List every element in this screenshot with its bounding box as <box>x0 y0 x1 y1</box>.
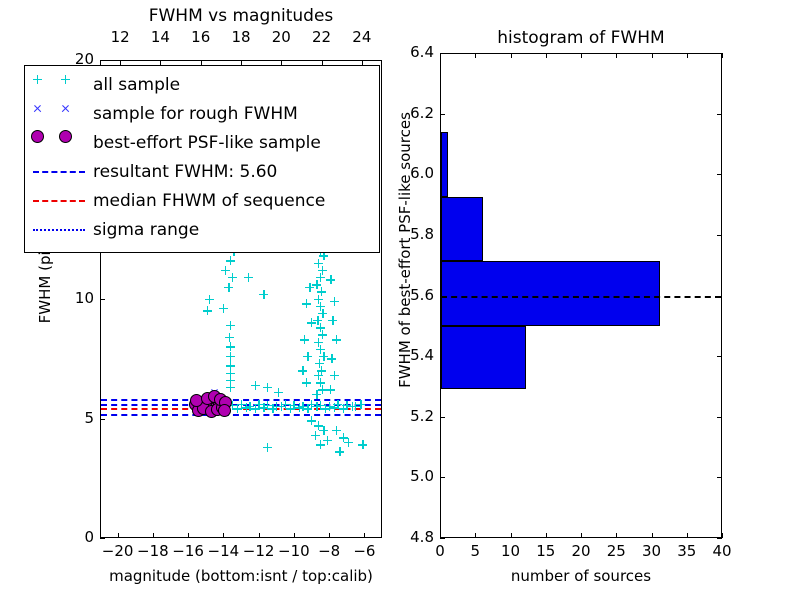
hist-x-tick: 30 <box>634 542 670 560</box>
legend-label: resultant FWHM: 5.60 <box>89 162 277 182</box>
hist-y-tick-mark-right <box>717 538 722 539</box>
scatter-bottom-tick: −10 <box>274 542 314 560</box>
hist-x-tick: 25 <box>598 542 634 560</box>
scatter-point-all-sample <box>335 447 344 456</box>
scatter-point-all-sample <box>317 366 326 375</box>
scatter-point-all-sample <box>226 352 235 361</box>
scatter-point-all-sample <box>311 431 320 440</box>
hist-x-tick: 5 <box>457 542 493 560</box>
scatter-point-all-sample <box>318 266 327 275</box>
hist-x-tick-mark <box>722 533 723 538</box>
scatter-point-all-sample <box>316 345 325 354</box>
scatter-xlabel: magnitude (bottom:isnt / top:calib) <box>80 567 402 585</box>
scatter-point-all-sample <box>263 383 272 392</box>
scatter-point-all-sample <box>314 259 323 268</box>
scatter-point-all-sample <box>307 416 316 425</box>
scatter-point-all-sample <box>318 330 327 339</box>
plus-icon <box>61 75 70 84</box>
scatter-point-all-sample <box>226 321 235 330</box>
scatter-point-all-sample <box>326 275 335 284</box>
hist-x-tick: 15 <box>528 542 564 560</box>
scatter-point-all-sample <box>203 306 212 315</box>
scatter-point-all-sample <box>319 352 328 361</box>
scatter-y-tick: 0 <box>56 528 94 546</box>
scatter-point-all-sample <box>327 354 336 363</box>
scatter-point-all-sample <box>332 426 341 435</box>
hist-ylabel: FWHM of best-effort PSF-like sources <box>396 40 414 460</box>
scatter-point-all-sample <box>224 283 233 292</box>
legend-sample-x <box>31 104 89 124</box>
scatter-point-all-sample <box>317 287 326 296</box>
scatter-point-all-sample <box>251 381 260 390</box>
scatter-point-all-sample <box>314 421 323 430</box>
scatter-point-all-sample <box>358 440 367 449</box>
dashed-line-icon <box>33 200 85 202</box>
scatter-point-all-sample <box>302 299 311 308</box>
hist-x-tick-mark-top <box>722 53 723 58</box>
scatter-y-tick: 10 <box>56 289 94 307</box>
x-icon <box>61 104 70 113</box>
legend-item[interactable]: all sample <box>31 70 371 99</box>
scatter-top-tick: 16 <box>185 28 217 46</box>
scatter-top-tick: 18 <box>225 28 257 46</box>
legend-sample-plus <box>31 75 89 95</box>
scatter-point-all-sample <box>305 283 314 292</box>
scatter-top-tick: 22 <box>306 28 338 46</box>
resultant-fwhm-line <box>101 404 381 406</box>
scatter-point-all-sample <box>323 436 332 445</box>
hist-x-tick: 20 <box>563 542 599 560</box>
hist-bar <box>441 326 526 390</box>
scatter-point-all-sample <box>226 361 235 370</box>
legend-label: median FHWM of sequence <box>89 191 325 211</box>
legend-sample-dashed-line <box>31 162 89 182</box>
legend-item[interactable]: sample for rough FWHM <box>31 99 371 128</box>
scatter-point-all-sample <box>316 273 325 282</box>
scatter-point-all-sample <box>298 366 307 375</box>
hist-panel-title: histogram of FWHM <box>440 28 722 48</box>
scatter-point-all-sample <box>314 295 323 304</box>
scatter-y-tick: 5 <box>56 409 94 427</box>
scatter-point-all-sample <box>226 342 235 351</box>
scatter-point-all-sample <box>316 440 325 449</box>
legend-item[interactable]: resultant FWHM: 5.60 <box>31 157 371 186</box>
hist-x-tick: 10 <box>493 542 529 560</box>
scatter-point-all-sample <box>344 438 353 447</box>
scatter-panel-title: FWHM vs magnitudes <box>100 6 382 26</box>
scatter-point-psf-like <box>218 404 231 417</box>
hist-bar <box>441 261 660 326</box>
x-icon <box>33 104 42 113</box>
hist-y-tick: 5.0 <box>392 467 434 485</box>
scatter-point-all-sample <box>319 426 328 435</box>
scatter-point-all-sample <box>312 390 321 399</box>
legend-sample-dot <box>31 133 89 153</box>
legend-label: best-effort PSF-like sample <box>89 133 321 153</box>
scatter-bottom-tick: −18 <box>133 542 173 560</box>
scatter-point-all-sample <box>225 333 234 342</box>
scatter-point-all-sample <box>300 335 309 344</box>
dashed-line-icon <box>33 171 85 173</box>
scatter-point-all-sample <box>226 383 235 392</box>
scatter-point-all-sample <box>314 338 323 347</box>
scatter-point-all-sample <box>219 304 228 313</box>
scatter-point-all-sample <box>226 369 235 378</box>
legend-sample-dashdot-line <box>31 220 89 240</box>
scatter-bottom-tick: −6 <box>344 542 384 560</box>
scatter-point-all-sample <box>332 335 341 344</box>
scatter-point-all-sample <box>316 323 325 332</box>
scatter-point-all-sample <box>316 302 325 311</box>
legend-item[interactable]: median FHWM of sequence <box>31 186 371 215</box>
scatter-point-all-sample <box>318 309 327 318</box>
hist-y-tick: 4.8 <box>392 528 434 546</box>
dashdot-line-icon <box>33 229 85 231</box>
sigma-upper-line <box>101 399 381 401</box>
scatter-top-tick: 12 <box>104 28 136 46</box>
scatter-bottom-tick: −20 <box>98 542 138 560</box>
scatter-point-all-sample <box>221 266 230 275</box>
scatter-point-all-sample <box>316 378 325 387</box>
hist-x-tick: 35 <box>669 542 705 560</box>
circle-icon <box>59 130 72 143</box>
scatter-point-all-sample <box>315 359 324 368</box>
scatter-point-all-sample <box>318 385 327 394</box>
hist-xlabel: number of sources <box>440 567 722 585</box>
median-fwhm-line <box>101 408 381 410</box>
plus-icon <box>33 75 42 84</box>
legend[interactable]: all samplesample for rough FWHMbest-effo… <box>24 65 380 253</box>
scatter-top-tick: 20 <box>265 28 297 46</box>
scatter-point-all-sample <box>314 371 323 380</box>
legend-label: all sample <box>89 75 180 95</box>
scatter-point-all-sample <box>313 316 322 325</box>
scatter-point-all-sample <box>226 256 235 265</box>
scatter-point-all-sample <box>274 388 283 397</box>
scatter-bottom-tick: −8 <box>309 542 349 560</box>
scatter-point-all-sample <box>263 443 272 452</box>
scatter-bottom-tick: −14 <box>203 542 243 560</box>
scatter-point-all-sample <box>244 273 253 282</box>
legend-label: sample for rough FWHM <box>89 104 298 124</box>
scatter-point-all-sample <box>228 273 237 282</box>
scatter-point-all-sample <box>226 376 235 385</box>
legend-item[interactable]: sigma range <box>31 215 371 244</box>
scatter-point-all-sample <box>259 290 268 299</box>
scatter-point-all-sample <box>312 280 321 289</box>
hist-x-tick: 40 <box>704 542 740 560</box>
hist-data-area <box>441 54 721 537</box>
hist-median-line <box>441 296 721 298</box>
legend-sample-dashed-line <box>31 191 89 211</box>
scatter-top-tick: 14 <box>144 28 176 46</box>
legend-item[interactable]: best-effort PSF-like sample <box>31 128 371 157</box>
scatter-point-all-sample <box>303 352 312 361</box>
scatter-top-tick: 24 <box>346 28 378 46</box>
hist-bar <box>441 132 448 197</box>
scatter-point-all-sample <box>302 378 311 387</box>
scatter-bottom-tick: −16 <box>168 542 208 560</box>
scatter-point-all-sample <box>339 433 348 442</box>
scatter-point-all-sample <box>307 318 316 327</box>
scatter-point-all-sample <box>205 295 214 304</box>
sigma-lower-line <box>101 414 381 416</box>
hist-y-tick-mark <box>440 538 445 539</box>
legend-label: sigma range <box>89 220 199 240</box>
circle-icon <box>31 130 44 143</box>
scatter-point-all-sample <box>330 297 339 306</box>
scatter-y-tick-mark <box>100 538 105 539</box>
hist-bar <box>441 197 483 261</box>
scatter-point-all-sample <box>330 371 339 380</box>
figure-canvas: FWHM vs magnitudes 12141618202224 −20−18… <box>0 0 800 600</box>
scatter-point-all-sample <box>326 385 335 394</box>
scatter-point-all-sample <box>328 316 337 325</box>
scatter-bottom-tick: −12 <box>239 542 279 560</box>
